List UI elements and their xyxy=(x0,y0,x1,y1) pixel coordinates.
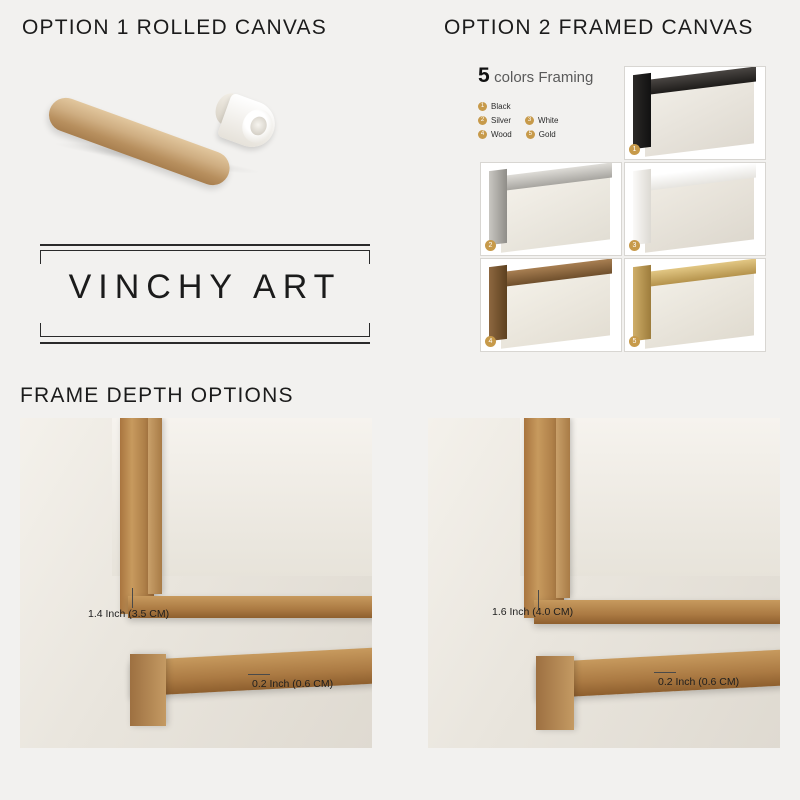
logo-rule-bottom-thick xyxy=(40,342,370,344)
bottom-frame-end-left xyxy=(130,654,166,726)
swatch-image-wood xyxy=(481,259,621,351)
swatch-image-silver xyxy=(481,163,621,255)
brand-logo: VINCHY ART xyxy=(40,244,370,354)
depth-edge-label-right: 0.2 Inch (0.6 CM) xyxy=(658,676,739,688)
swatch-image-gold xyxy=(625,259,765,351)
option-2-title: OPTION 2 FRAMED CANVAS xyxy=(444,16,754,40)
vertical-frame-inner-right xyxy=(556,418,570,598)
option-1-title: OPTION 1 ROLLED CANVAS xyxy=(22,16,327,40)
logo-text: VINCHY ART xyxy=(40,268,370,307)
depth-edge-label-left: 0.2 Inch (0.6 CM) xyxy=(252,678,333,690)
swatch-badge-4-icon: 4 xyxy=(485,336,496,347)
swatch-image-white xyxy=(625,163,765,255)
product-infographic: OPTION 1 ROLLED CANVAS OPTION 2 FRAMED C… xyxy=(0,0,800,800)
framing-swatch-grid: 1 2 3 xyxy=(472,58,772,358)
rolled-canvas-illustration xyxy=(40,70,300,180)
logo-rule-bottom-thin xyxy=(40,336,370,337)
leader-edge-right xyxy=(654,672,676,673)
leader-thickness-left xyxy=(132,588,133,608)
frame-depth-photo-right: 1.6 Inch (4.0 CM) 0.2 Inch (0.6 CM) xyxy=(428,418,780,748)
framing-colors-panel: 5 colors Framing 1 Black 2 Silver 3 Whit… xyxy=(464,58,776,358)
swatch-badge-2-icon: 2 xyxy=(485,240,496,251)
frame-swatch-black[interactable]: 1 xyxy=(624,66,766,160)
vertical-frame-inner-left xyxy=(148,418,162,594)
depth-thickness-label-right: 1.6 Inch (4.0 CM) xyxy=(492,606,573,618)
swatch-badge-3-icon: 3 xyxy=(629,240,640,251)
leader-edge-left xyxy=(248,674,270,675)
frame-swatch-wood[interactable]: 4 xyxy=(480,258,622,352)
logo-tick-left-top xyxy=(40,250,41,264)
logo-rule-top-thick xyxy=(40,244,370,246)
swatch-image-black xyxy=(625,67,765,159)
bottom-frame-end-right xyxy=(536,656,574,730)
frame-depth-title: FRAME DEPTH OPTIONS xyxy=(20,384,294,408)
logo-tick-right-top xyxy=(369,250,370,264)
logo-rule-top-thin xyxy=(40,250,370,251)
logo-tick-right-bottom xyxy=(369,323,370,337)
frame-swatch-gold[interactable]: 5 xyxy=(624,258,766,352)
logo-tick-left-bottom xyxy=(40,323,41,337)
frame-swatch-white[interactable]: 3 xyxy=(624,162,766,256)
depth-thickness-label-left: 1.4 Inch (3.5 CM) xyxy=(88,608,169,620)
frame-depth-photo-left: 1.4 Inch (3.5 CM) 0.2 Inch (0.6 CM) xyxy=(20,418,372,748)
swatch-badge-1-icon: 1 xyxy=(629,144,640,155)
swatch-badge-5-icon: 5 xyxy=(629,336,640,347)
frame-swatch-silver[interactable]: 2 xyxy=(480,162,622,256)
